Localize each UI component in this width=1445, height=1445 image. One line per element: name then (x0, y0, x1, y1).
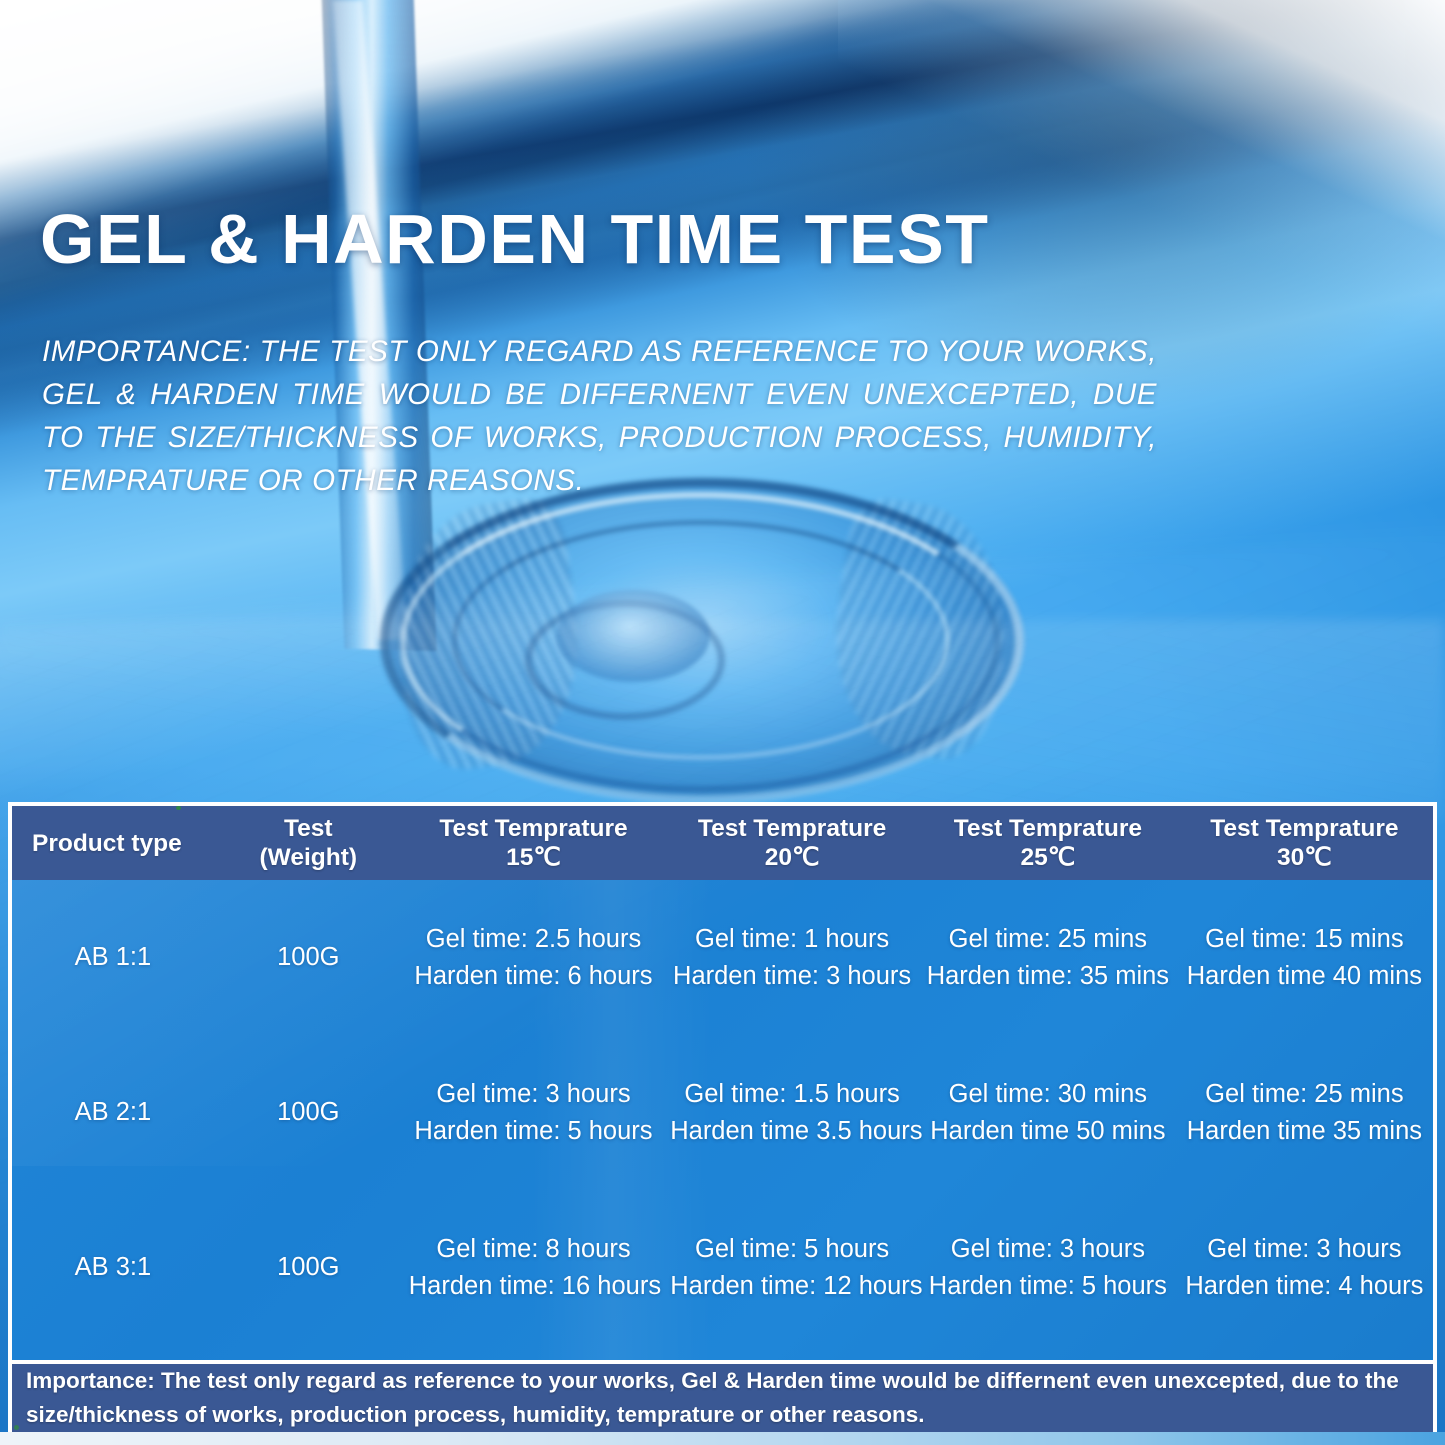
cell-gel-time: Gel time: 30 mins (926, 1076, 1170, 1113)
cell-temp-25: Gel time: 25 mins Harden time: 35 mins (920, 880, 1176, 1035)
col-header-temp-15-line2: 15℃ (407, 843, 660, 872)
table-header-row: Product type Test (Weight) Test Tempratu… (12, 806, 1433, 880)
col-header-temp-15-line1: Test Temprature (439, 815, 627, 842)
cell-temp-25: Gel time: 30 mins Harden time 50 mins (920, 1035, 1176, 1190)
cell-harden-time: Harden time: 5 hours (926, 1268, 1170, 1305)
cell-gel-time: Gel time: 25 mins (926, 921, 1170, 958)
col-header-temp-25-line1: Test Temprature (954, 815, 1142, 842)
page-title: GEL & HARDEN TIME TEST (40, 204, 990, 274)
table-head: Product type Test (Weight) Test Tempratu… (12, 806, 1433, 880)
footer-note: Importance: The test only regard as refe… (8, 1364, 1437, 1432)
cell-harden-time: Harden time: 12 hours (670, 1268, 914, 1305)
cell-harden-time: Harden time: 4 hours (1182, 1268, 1427, 1305)
cell-harden-time: Harden time: 6 hours (409, 958, 658, 995)
cell-gel-time: Gel time: 5 hours (670, 1231, 914, 1268)
cell-temp-30: Gel time: 15 mins Harden time 40 mins (1176, 880, 1433, 1035)
cell-weight: 100G (214, 1190, 403, 1345)
cell-weight: 100G (214, 1035, 403, 1190)
col-header-temp-20: Test Temprature 20℃ (664, 806, 920, 880)
cell-harden-time: Harden time: 3 hours (670, 958, 914, 995)
col-header-temp-30: Test Temprature 30℃ (1176, 806, 1433, 880)
cell-temp-30: Gel time: 25 mins Harden time 35 mins (1176, 1035, 1433, 1190)
cell-temp-15: Gel time: 2.5 hours Harden time: 6 hours (403, 880, 664, 1035)
cell-gel-time: Gel time: 1.5 hours (670, 1076, 914, 1113)
cell-gel-time: Gel time: 3 hours (1182, 1231, 1427, 1268)
cell-harden-time: Harden time: 35 mins (926, 958, 1170, 995)
table-body: AB 1:1 100G Gel time: 2.5 hours Harden t… (12, 880, 1433, 1345)
cell-harden-time: Harden time 40 mins (1182, 958, 1427, 995)
table-row: AB 1:1 100G Gel time: 2.5 hours Harden t… (12, 880, 1433, 1035)
gel-harden-time-table: Product type Test (Weight) Test Tempratu… (8, 802, 1437, 1364)
col-header-temp-25: Test Temprature 25℃ (920, 806, 1176, 880)
cell-harden-time: Harden time 35 mins (1182, 1113, 1427, 1150)
cell-harden-time: Harden time 50 mins (926, 1113, 1170, 1150)
importance-paragraph: IMPORTANCE: THE TEST ONLY REGARD AS REFE… (42, 330, 1157, 502)
col-header-test-weight: Test (Weight) (214, 806, 403, 880)
col-header-product-type: Product type (12, 806, 214, 880)
cell-harden-time: Harden time: 16 hours (409, 1268, 658, 1305)
poster-root: GEL & HARDEN TIME TEST IMPORTANCE: THE T… (0, 0, 1445, 1445)
cell-temp-15: Gel time: 8 hours Harden time: 16 hours (403, 1190, 664, 1345)
cell-harden-time: Harden time 3.5 hours (670, 1113, 914, 1150)
specs-table: Product type Test (Weight) Test Tempratu… (12, 806, 1433, 1345)
artifact-dot (176, 806, 181, 810)
cell-harden-time: Harden time: 5 hours (409, 1113, 658, 1150)
col-header-temp-15: Test Temprature 15℃ (403, 806, 664, 880)
cell-gel-time: Gel time: 8 hours (409, 1231, 658, 1268)
cell-temp-15: Gel time: 3 hours Harden time: 5 hours (403, 1035, 664, 1190)
cell-weight: 100G (214, 880, 403, 1035)
col-header-product-type-line1: Product type (32, 830, 182, 857)
cell-gel-time: Gel time: 3 hours (926, 1231, 1170, 1268)
cell-product-type: AB 3:1 (12, 1190, 214, 1345)
col-header-test-weight-line1: Test (284, 815, 333, 842)
cell-gel-time: Gel time: 2.5 hours (409, 921, 658, 958)
col-header-temp-20-line1: Test Temprature (698, 815, 886, 842)
col-header-test-weight-line2: (Weight) (218, 843, 399, 872)
cell-gel-time: Gel time: 15 mins (1182, 921, 1427, 958)
col-header-temp-20-line2: 20℃ (668, 843, 916, 872)
table-row: AB 3:1 100G Gel time: 8 hours Harden tim… (12, 1190, 1433, 1345)
cell-temp-20: Gel time: 1.5 hours Harden time 3.5 hour… (664, 1035, 920, 1190)
col-header-temp-30-line1: Test Temprature (1210, 815, 1398, 842)
artifact-dot-bottom (14, 1425, 19, 1430)
bottom-photo-strip (0, 1432, 1445, 1445)
cell-gel-time: Gel time: 1 hours (670, 921, 914, 958)
cell-temp-20: Gel time: 1 hours Harden time: 3 hours (664, 880, 920, 1035)
cell-product-type: AB 1:1 (12, 880, 214, 1035)
col-header-temp-25-line2: 25℃ (924, 843, 1172, 872)
cell-temp-25: Gel time: 3 hours Harden time: 5 hours (920, 1190, 1176, 1345)
col-header-temp-30-line2: 30℃ (1180, 843, 1429, 872)
cell-gel-time: Gel time: 25 mins (1182, 1076, 1427, 1113)
table-row: AB 2:1 100G Gel time: 3 hours Harden tim… (12, 1035, 1433, 1190)
cell-temp-30: Gel time: 3 hours Harden time: 4 hours (1176, 1190, 1433, 1345)
cell-gel-time: Gel time: 3 hours (409, 1076, 658, 1113)
cell-product-type: AB 2:1 (12, 1035, 214, 1190)
cell-temp-20: Gel time: 5 hours Harden time: 12 hours (664, 1190, 920, 1345)
